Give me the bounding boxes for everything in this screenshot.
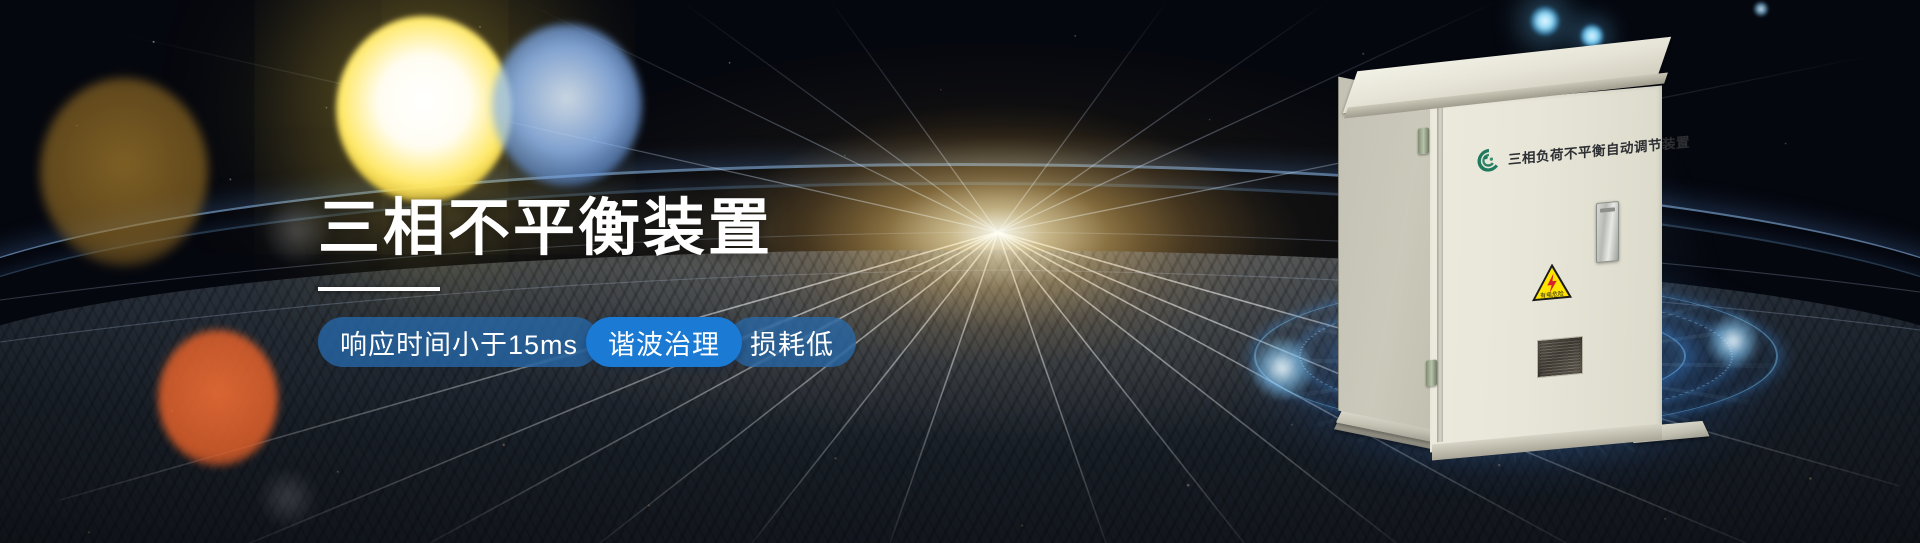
cabinet-hinge-bottom (1426, 359, 1437, 386)
feature-tag-row: 响应时间小于15ms 谐波治理 损耗低 (318, 317, 856, 367)
hero-banner: 三相负荷不平衡自动调节装置 有电危险 三相不平衡装置 响应时间小于15ms 谐波… (0, 0, 1920, 543)
cabinet-vent-grille (1537, 336, 1583, 378)
feature-tag-response-time[interactable]: 响应时间小于15ms (318, 317, 600, 367)
electrical-hazard-warning-icon: 有电危险 (1532, 262, 1572, 302)
feature-tag-low-loss[interactable]: 损耗低 (728, 317, 856, 367)
company-logo-icon (1476, 146, 1502, 175)
banner-text-block: 三相不平衡装置 响应时间小于15ms 谐波治理 损耗低 (318, 196, 856, 367)
cabinet-hinge-top (1418, 127, 1429, 154)
cabinet-door-handle (1596, 201, 1619, 263)
title-divider (318, 287, 440, 291)
product-cabinet: 三相负荷不平衡自动调节装置 有电危险 (1300, 20, 1780, 490)
feature-tag-harmonic-treatment[interactable]: 谐波治理 (586, 317, 742, 367)
cabinet-side-shading (1338, 77, 1430, 430)
cabinet-door-seam (1437, 94, 1443, 443)
page-title: 三相不平衡装置 (318, 196, 856, 261)
